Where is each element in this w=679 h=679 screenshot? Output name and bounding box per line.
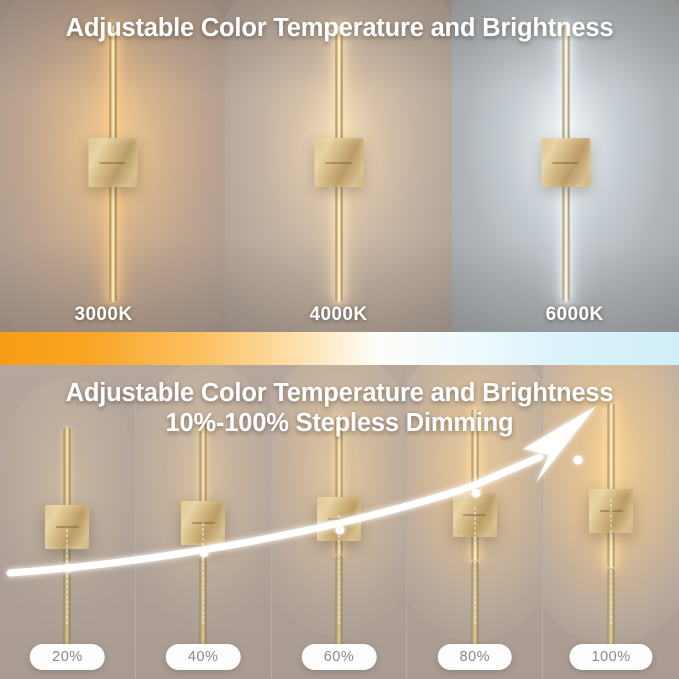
dim-badge-20[interactable]: 20%	[30, 644, 105, 670]
ct-panel-3000k: 3000K	[0, 0, 225, 332]
drop-line	[611, 499, 612, 624]
stepless-dimming-section: 20% 40%	[0, 365, 679, 679]
drop-line	[338, 515, 339, 624]
ct-label-6000k: 6000K	[546, 304, 604, 326]
mounting-plate-icon	[314, 138, 363, 187]
dim-panel-100: 100%	[543, 365, 679, 679]
dim-badge-60[interactable]: 60%	[302, 644, 377, 670]
color-temperature-section: 3000K 4000K 6000K	[0, 0, 679, 332]
wall-light-fixture-3000k	[83, 26, 143, 302]
mounting-plate-icon	[541, 138, 590, 187]
dim-badge-40[interactable]: 40%	[166, 644, 241, 670]
dimming-panels: 20% 40%	[0, 365, 679, 679]
ct-label-3000k: 3000K	[75, 304, 133, 326]
color-temperature-panels: 3000K 4000K 6000K	[0, 0, 679, 332]
dim-panel-80: 80%	[407, 365, 543, 679]
ct-panel-4000k: 4000K	[225, 0, 452, 332]
dim-panel-60: 60%	[272, 365, 408, 679]
dim-panel-20: 20%	[0, 365, 136, 679]
dim-badge-100[interactable]: 100%	[570, 644, 653, 670]
mounting-plate-icon	[88, 138, 137, 187]
drop-line	[203, 523, 204, 624]
drop-line	[474, 507, 475, 624]
warm-to-cool-gradient-bar	[0, 332, 679, 365]
wall-light-fixture-4000k	[309, 26, 369, 302]
top-section-title: Adjustable Color Temperature and Brightn…	[0, 14, 679, 43]
wall-light-fixture-6000k	[536, 26, 596, 302]
dim-badge-80[interactable]: 80%	[438, 644, 513, 670]
ct-panel-6000k: 6000K	[452, 0, 679, 332]
ct-label-4000k: 4000K	[310, 304, 368, 326]
drop-line	[67, 529, 68, 624]
dim-panel-40: 40%	[136, 365, 272, 679]
product-feature-image: 3000K 4000K 6000K	[0, 0, 679, 679]
